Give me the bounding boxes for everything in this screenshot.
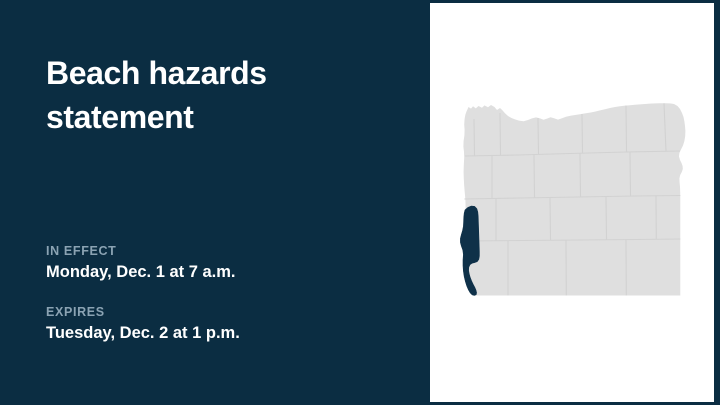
page-title-line-1: Beach hazards — [46, 51, 386, 95]
beach-hazards-alert-card: Beach hazards statement IN EFFECT Monday… — [0, 0, 720, 405]
alert-timing-block: IN EFFECT Monday, Dec. 1 at 7 a.m. EXPIR… — [46, 244, 396, 344]
oregon-state-shape — [463, 103, 685, 295]
page-title: Beach hazards statement — [46, 51, 386, 139]
in-effect-row: IN EFFECT Monday, Dec. 1 at 7 a.m. — [46, 244, 396, 283]
expires-value: Tuesday, Dec. 2 at 1 p.m. — [46, 323, 396, 344]
expires-row: EXPIRES Tuesday, Dec. 2 at 1 p.m. — [46, 305, 396, 344]
alert-info-panel: Beach hazards statement IN EFFECT Monday… — [0, 0, 430, 405]
in-effect-value: Monday, Dec. 1 at 7 a.m. — [46, 262, 396, 283]
oregon-map-icon — [430, 3, 714, 402]
in-effect-label: IN EFFECT — [46, 244, 396, 259]
page-title-line-2: statement — [46, 95, 386, 139]
expires-label: EXPIRES — [46, 305, 396, 320]
map-panel — [430, 3, 714, 402]
